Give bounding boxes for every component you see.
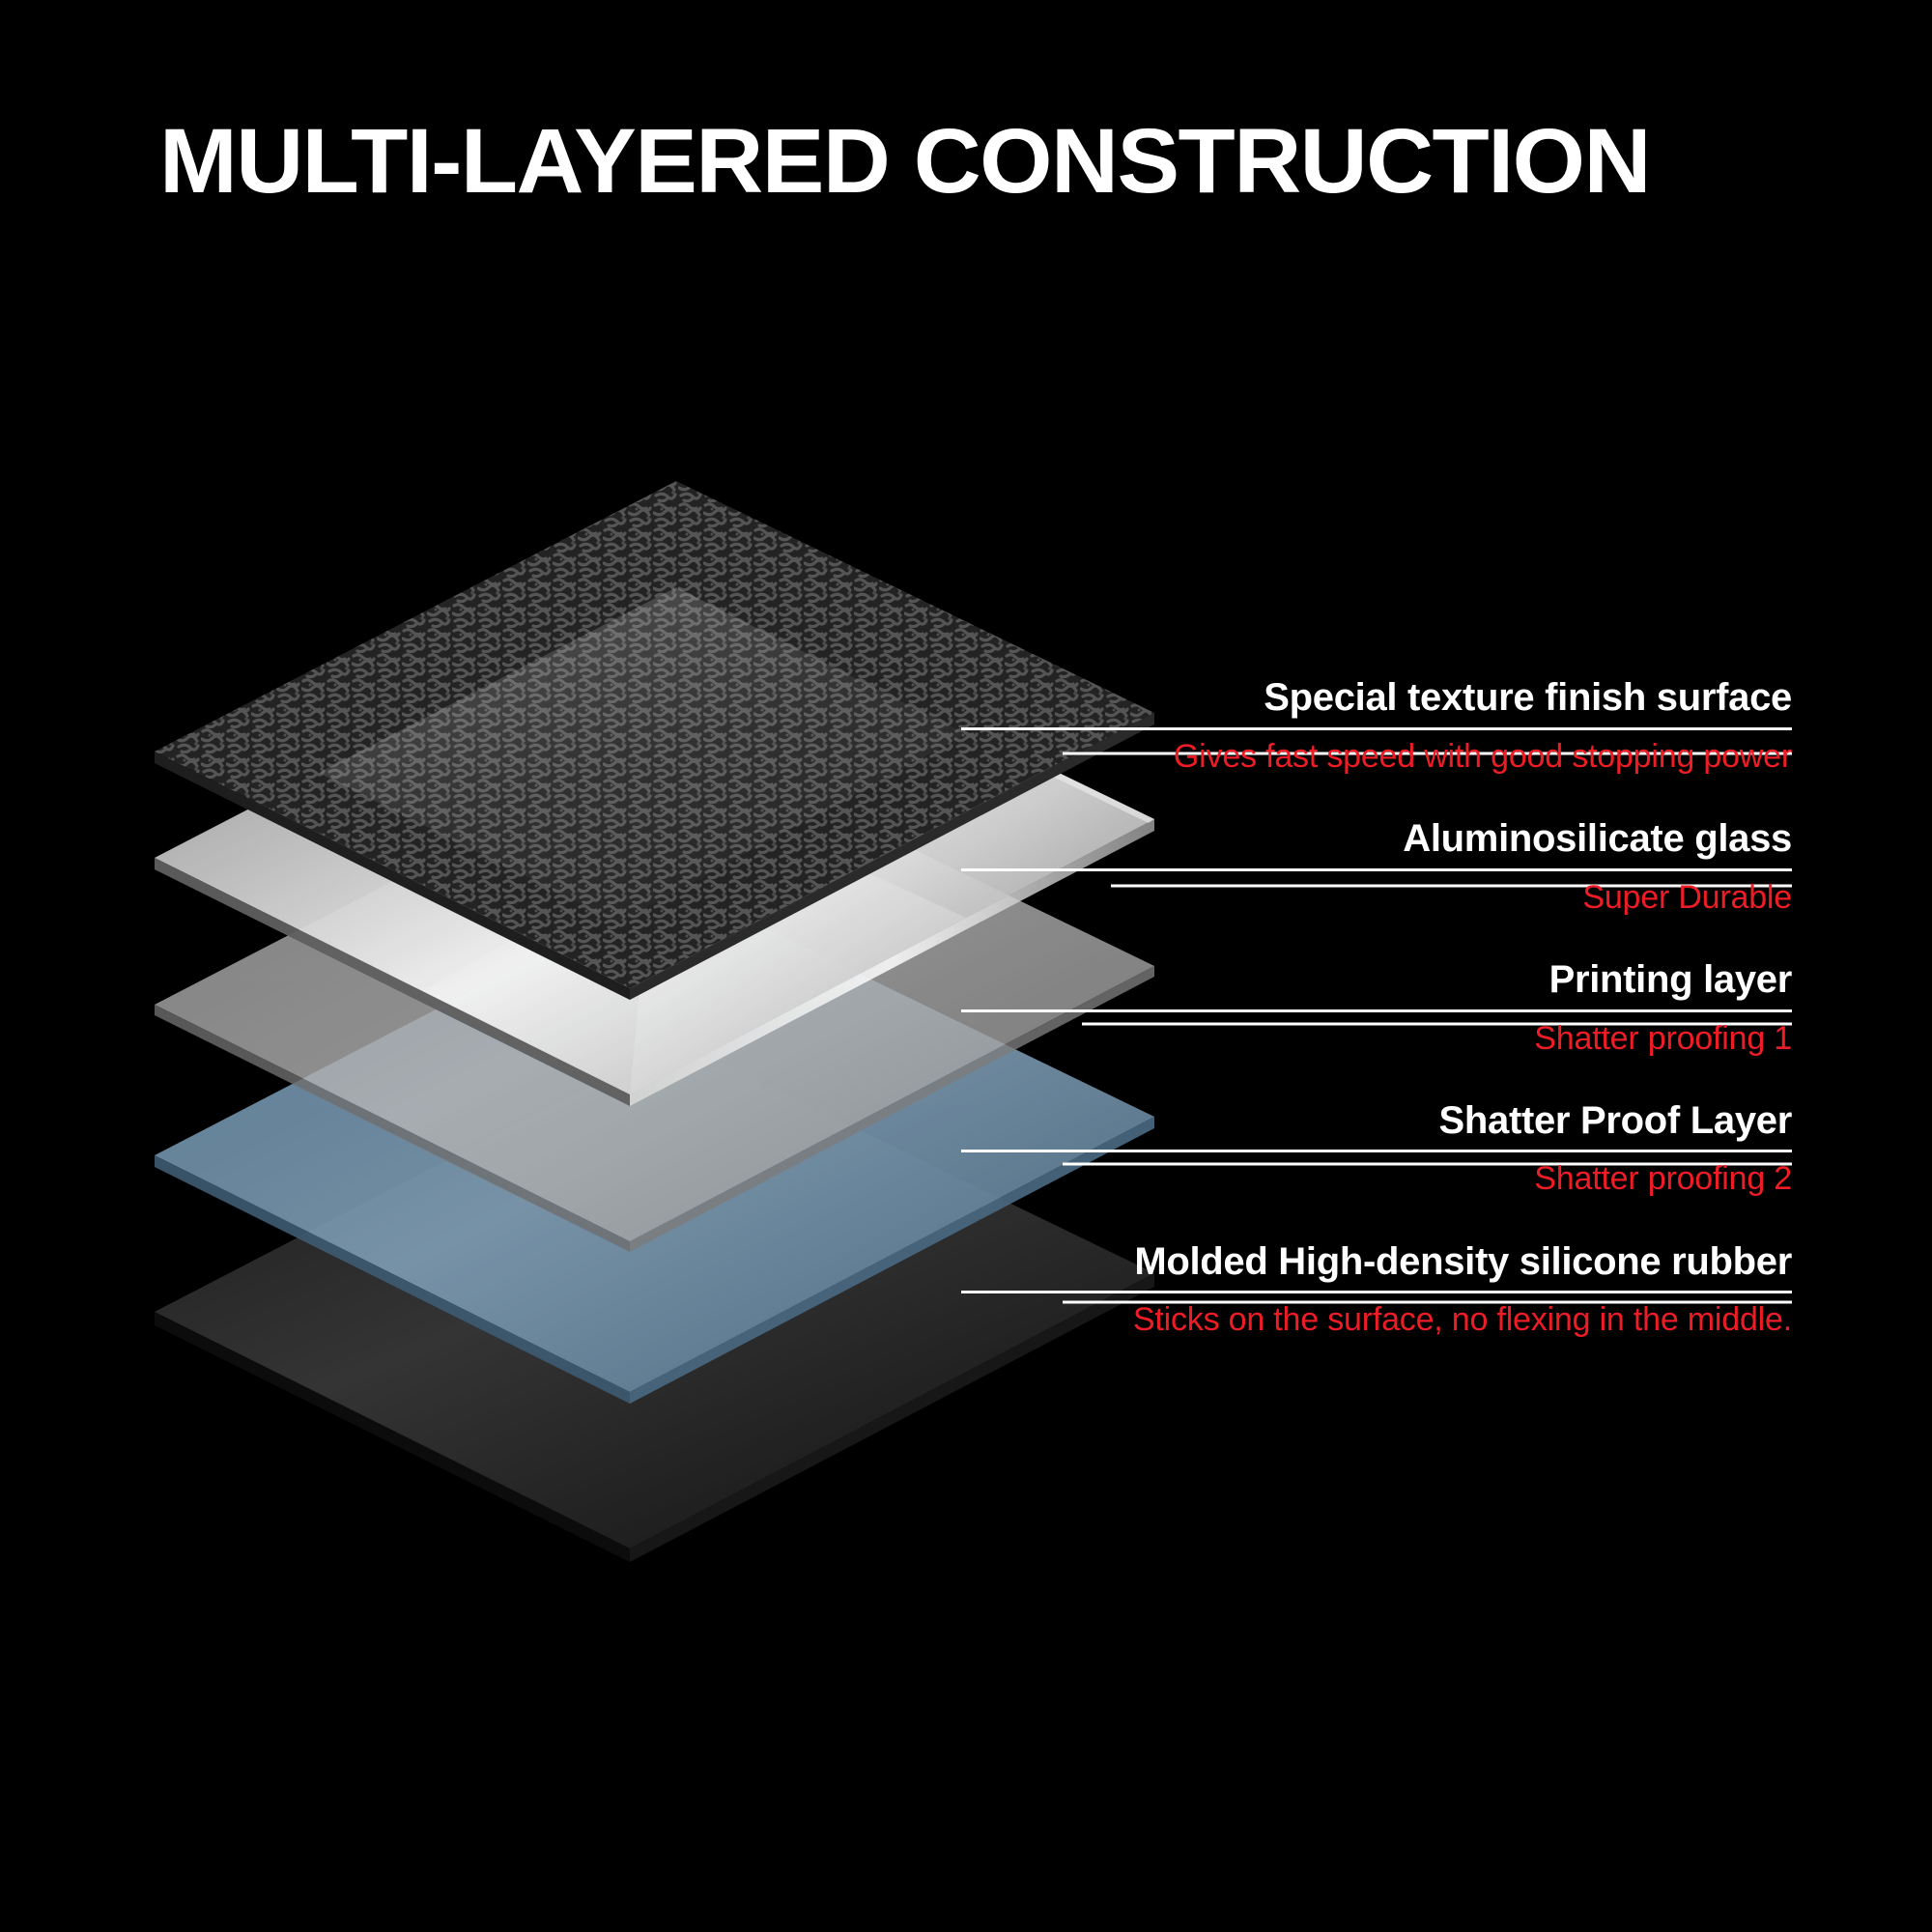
callout-silicone-rubber: Molded High-density silicone rubber Stic… [961,1240,1792,1339]
callout-title: Printing layer [961,958,1792,1002]
callout-subtitle: Shatter proofing 2 [961,1160,1792,1197]
callout-list: Special texture finish surface Gives fas… [961,676,1792,1338]
callout-subtitle: Super Durable [961,879,1792,916]
callout-divider [961,1291,1792,1293]
callout-subtitle: Shatter proofing 1 [961,1020,1792,1057]
callout-printing-layer: Printing layer Shatter proofing 1 [961,958,1792,1057]
callout-divider [961,868,1792,871]
callout-divider [961,1150,1792,1152]
callout-title: Aluminosilicate glass [961,817,1792,861]
callout-shatter-proof-layer: Shatter Proof Layer Shatter proofing 2 [961,1099,1792,1198]
callout-title: Molded High-density silicone rubber [961,1240,1792,1284]
callout-title: Special texture finish surface [961,676,1792,720]
callout-texture-surface: Special texture finish surface Gives fas… [961,676,1792,775]
glass-overlay-sheen [319,587,966,923]
callout-subtitle: Sticks on the surface, no flexing in the… [961,1301,1792,1338]
callout-subtitle: Gives fast speed with good stopping powe… [961,738,1792,775]
poster-canvas: MULTI-LAYERED CONSTRUCTION [0,0,1932,1932]
callout-title: Shatter Proof Layer [961,1099,1792,1143]
callout-divider [961,1009,1792,1012]
callout-aluminosilicate-glass: Aluminosilicate glass Super Durable [961,817,1792,916]
page-title: MULTI-LAYERED CONSTRUCTION [159,116,1650,208]
callout-divider [961,727,1792,730]
